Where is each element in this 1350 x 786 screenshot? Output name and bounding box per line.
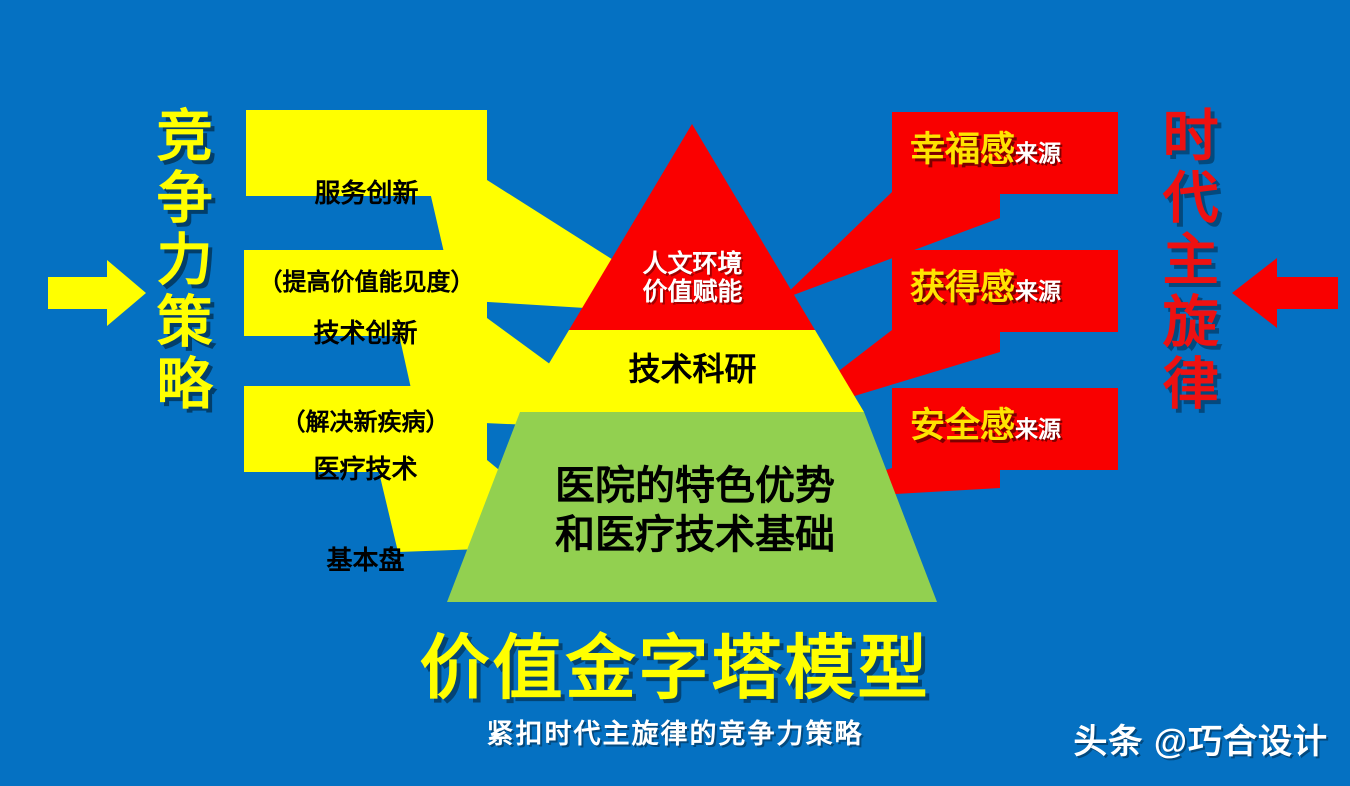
callout-big-text: 获得感 [910, 268, 1015, 307]
callout-small-text: 来源 [1015, 278, 1061, 304]
left-heading: 竞争力策略 [152, 106, 209, 416]
pyramid-label-base: 医院的特色优势 和医疗技术基础 [450, 462, 940, 560]
right-heading: 时代主旋律 [1158, 106, 1215, 416]
callout-line-1: 服务创新 [246, 178, 487, 208]
poster-canvas: 竞争力策略 时代主旋律 服务创新 （提高价值能见度） 技术创新 （解决新疾病） … [0, 0, 1350, 786]
callout-label-gain: 获得感来源 [910, 270, 1061, 305]
callout-label-happiness: 幸福感来源 [910, 132, 1061, 167]
callout-label-safety: 安全感来源 [910, 408, 1061, 443]
pyramid-label-middle: 技术科研 [560, 352, 825, 388]
callout-big-text: 安全感 [910, 406, 1015, 445]
callout-small-text: 来源 [1015, 416, 1061, 442]
callout-line-1: 技术创新 [244, 318, 487, 348]
callout-big-text: 幸福感 [910, 130, 1015, 169]
page-title: 价值金字塔模型 [0, 612, 1350, 713]
watermark: 头条 @巧合设计 [1073, 714, 1328, 763]
callout-small-text: 来源 [1015, 140, 1061, 166]
pyramid-label-top: 人文环境 价值赋能 [560, 250, 825, 306]
